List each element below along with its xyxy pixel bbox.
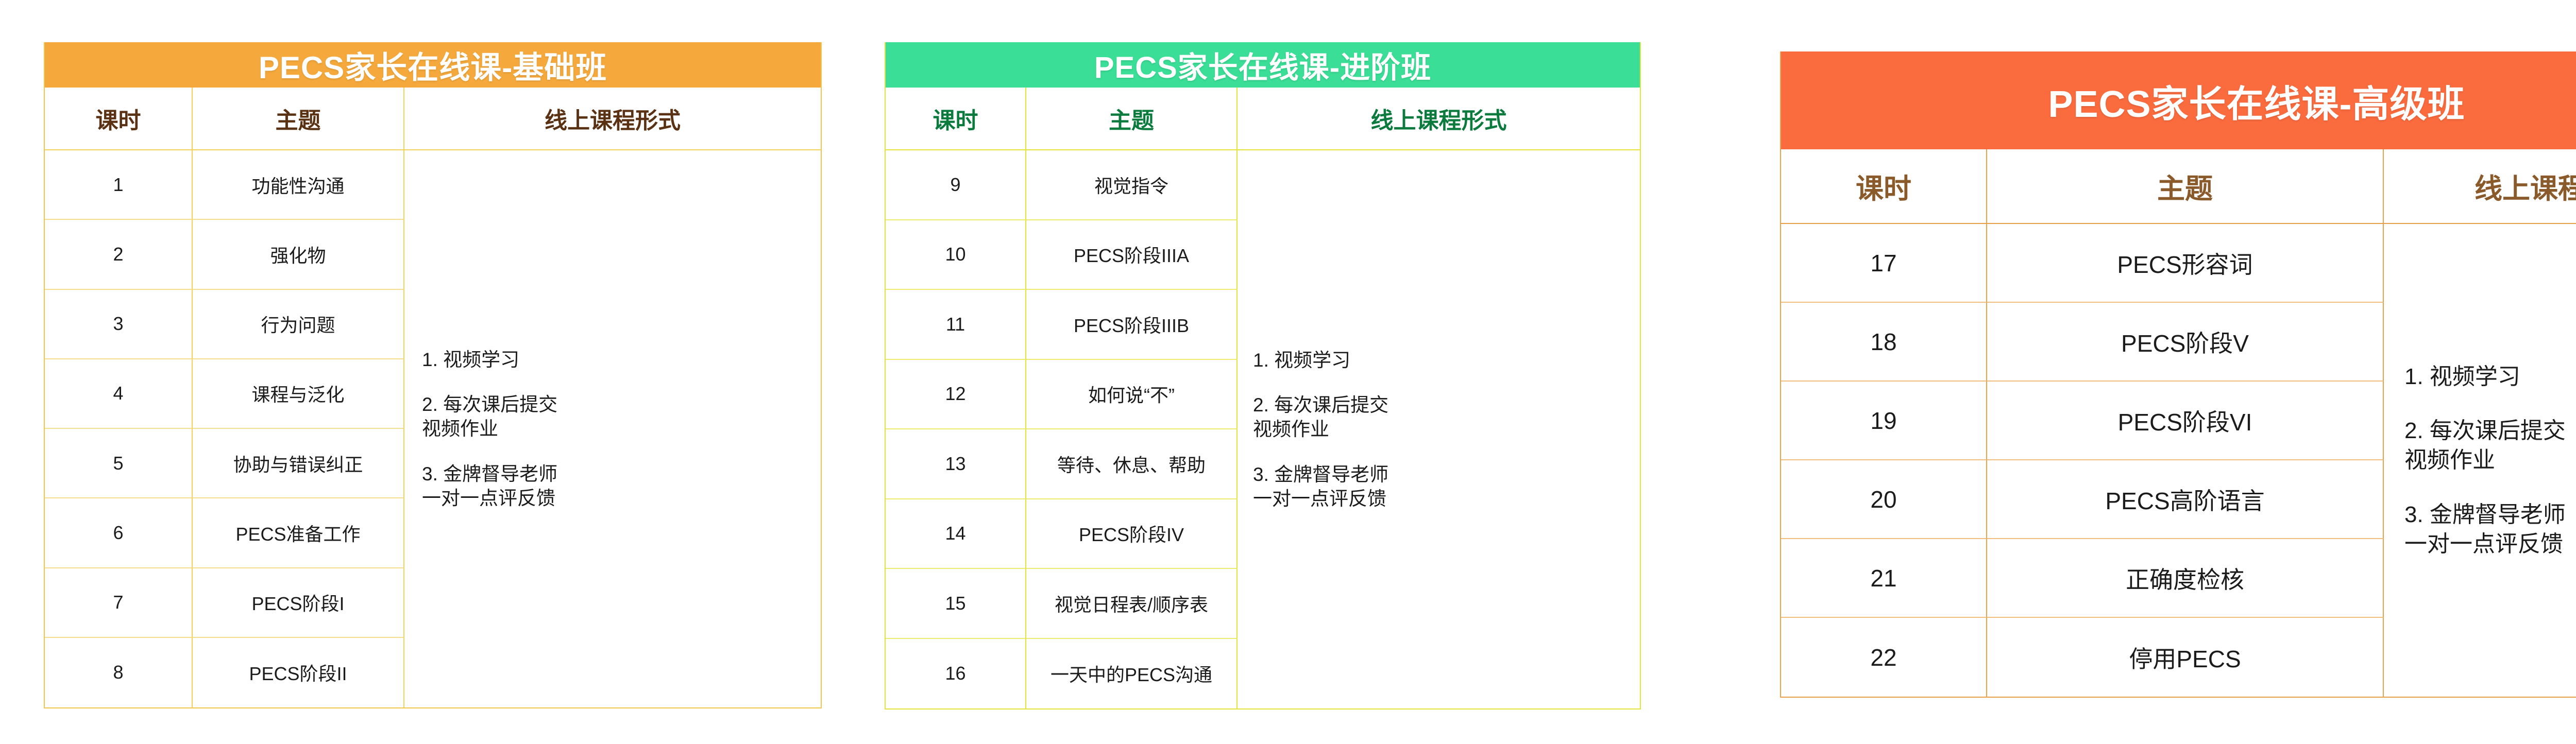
table-title-intermediate: PECS家长在线课-进阶班 — [886, 42, 1640, 88]
course-schedule-board: PECS家长在线课-基础班 课时 主题 线上课程形式 1 功能性沟通 2 强化物… — [0, 0, 2576, 744]
table-row: 10 — [886, 220, 1026, 290]
column-header-format: 线上课程形式 — [2384, 149, 2576, 224]
course-format-cell-intermediate: 1. 视频学习 2. 每次课后提交 视频作业 3. 金牌督导老师 一对一点评反馈 — [1238, 150, 1640, 708]
course-format-cell-senior: 1. 视频学习 2. 每次课后提交 视频作业 3. 金牌督导老师 一对一点评反馈 — [2384, 224, 2576, 697]
table-row: 课程与泛化 — [193, 359, 404, 429]
table-row: PECS阶段IIIA — [1026, 220, 1238, 290]
table-row: 22 — [1781, 618, 1987, 697]
table-row: 协助与错误纠正 — [193, 429, 404, 498]
column-header-topic: 主题 — [193, 88, 404, 150]
table-row: 6 — [45, 498, 193, 568]
table-row: 正确度检核 — [1987, 539, 2384, 618]
table-body-senior: 课时 主题 线上课程形式 17 PECS形容词 18 PECS阶段V 19 PE… — [1781, 149, 2576, 697]
course-table-basic: PECS家长在线课-基础班 课时 主题 线上课程形式 1 功能性沟通 2 强化物… — [44, 42, 822, 708]
format-item: 1. 视频学习 — [1253, 348, 1631, 372]
table-body-intermediate: 课时 主题 线上课程形式 9 视觉指令 10 PECS阶段IIIA 11 PEC… — [886, 88, 1640, 708]
course-format-cell-basic: 1. 视频学习 2. 每次课后提交 视频作业 3. 金牌督导老师 一对一点评反馈 — [404, 150, 821, 707]
table-row: PECS高阶语言 — [1987, 460, 2384, 539]
table-row: 15 — [886, 569, 1026, 639]
table-row: 5 — [45, 429, 193, 498]
table-row: 停用PECS — [1987, 618, 2384, 697]
course-table-intermediate: PECS家长在线课-进阶班 课时 主题 线上课程形式 9 视觉指令 10 PEC… — [885, 42, 1641, 710]
column-header-lesson: 课时 — [1781, 149, 1987, 224]
table-row: PECS阶段V — [1987, 303, 2384, 382]
table-row: PECS形容词 — [1987, 224, 2384, 303]
table-row: 17 — [1781, 224, 1987, 303]
table-row: 12 — [886, 360, 1026, 430]
table-row: PECS阶段IV — [1026, 499, 1238, 569]
table-title-senior: PECS家长在线课-高级班 — [1781, 51, 2576, 149]
column-header-topic: 主题 — [1987, 149, 2384, 224]
column-header-lesson: 课时 — [45, 88, 193, 150]
course-table-senior: PECS家长在线课-高级班 课时 主题 线上课程形式 17 PECS形容词 18… — [1780, 51, 2576, 698]
table-row: 如何说“不” — [1026, 360, 1238, 430]
table-row: 13 — [886, 429, 1026, 499]
column-header-format: 线上课程形式 — [404, 88, 821, 150]
table-row: 行为问题 — [193, 290, 404, 359]
format-item: 2. 每次课后提交 视频作业 — [1253, 393, 1631, 442]
format-item: 1. 视频学习 — [422, 348, 811, 372]
table-row: 9 — [886, 150, 1026, 220]
table-row: 4 — [45, 359, 193, 429]
table-row: 20 — [1781, 460, 1987, 539]
table-row: PECS准备工作 — [193, 498, 404, 568]
table-title-basic: PECS家长在线课-基础班 — [45, 42, 821, 88]
table-row: 一天中的PECS沟通 — [1026, 639, 1238, 709]
table-row: 14 — [886, 499, 1026, 569]
table-row: 8 — [45, 638, 193, 707]
table-row: 2 — [45, 220, 193, 289]
column-header-lesson: 课时 — [886, 88, 1026, 150]
table-row: PECS阶段IIIB — [1026, 290, 1238, 360]
table-row: PECS阶段I — [193, 568, 404, 638]
format-item: 2. 每次课后提交 视频作业 — [422, 392, 811, 441]
table-row: 19 — [1781, 382, 1987, 460]
table-row: 功能性沟通 — [193, 150, 404, 220]
table-row: 视觉日程表/顺序表 — [1026, 569, 1238, 639]
table-row: PECS阶段II — [193, 638, 404, 707]
column-header-format: 线上课程形式 — [1238, 88, 1640, 150]
format-item: 3. 金牌督导老师 一对一点评反馈 — [422, 462, 811, 511]
column-header-topic: 主题 — [1026, 88, 1238, 150]
format-item: 1. 视频学习 — [2404, 362, 2576, 391]
table-row: 18 — [1781, 303, 1987, 382]
table-row: 视觉指令 — [1026, 150, 1238, 220]
table-row: PECS阶段VI — [1987, 382, 2384, 460]
table-row: 11 — [886, 290, 1026, 360]
table-row: 等待、休息、帮助 — [1026, 429, 1238, 499]
table-row: 21 — [1781, 539, 1987, 618]
table-row: 7 — [45, 568, 193, 638]
table-body-basic: 课时 主题 线上课程形式 1 功能性沟通 2 强化物 3 行为问题 4 课程与泛… — [45, 88, 821, 707]
table-row: 1 — [45, 150, 193, 220]
format-item: 3. 金牌督导老师 一对一点评反馈 — [2404, 500, 2576, 559]
format-item: 2. 每次课后提交 视频作业 — [2404, 416, 2576, 475]
table-row: 强化物 — [193, 220, 404, 289]
table-row: 3 — [45, 290, 193, 359]
format-item: 3. 金牌督导老师 一对一点评反馈 — [1253, 462, 1631, 511]
table-row: 16 — [886, 639, 1026, 709]
